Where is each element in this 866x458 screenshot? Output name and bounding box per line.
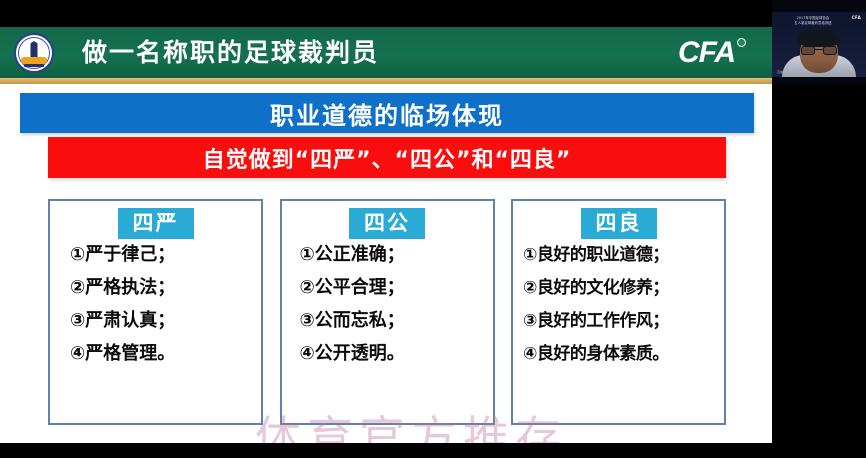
video-corner-brand: CFA — [852, 15, 861, 20]
red-headline-text: 自觉做到“四严”、“四公”和“四良” — [203, 142, 572, 174]
content-columns: 四严 ①严于律己； ②严格执法； ③严肃认真； ④严格管理。 四公 ①公正准确；… — [48, 199, 726, 425]
video-banner-text: 2017年中国足球协会 五人制足球裁判员培训班 — [780, 16, 846, 26]
list-item: ④公开透明。 — [292, 344, 493, 364]
column-heading-si-yan: 四严 — [118, 208, 194, 239]
list-item: ②良好的文化修养； — [523, 278, 724, 298]
list-item: ③严肃认真； — [60, 311, 261, 331]
content-column-si-yan: 四严 ①严于律己； ②严格执法； ③严肃认真； ④严格管理。 — [48, 199, 263, 425]
list-item: ①严于律己； — [60, 245, 261, 265]
list-item: ②严格执法； — [60, 278, 261, 298]
crest-ribbon-shape — [21, 57, 47, 64]
column-heading-si-gong: 四公 — [349, 208, 425, 239]
video-letterbox-top — [772, 0, 866, 12]
video-letterbox-bottom — [772, 77, 866, 85]
blue-headline-banner: 职业道德的临场体现 — [20, 93, 754, 133]
column-list-si-gong: ①公正准确； ②公平合理； ③公而忘私； ④公开透明。 — [282, 245, 493, 364]
list-item: ④良好的身体素质。 — [523, 344, 724, 364]
presenter-video-thumbnail[interactable]: CFA 2017年中国足球协会 五人制足球裁判员培训班 直播中 — [772, 0, 866, 85]
glasses-lens-left — [801, 46, 815, 55]
content-column-si-liang: 四良 ①良好的职业道德； ②良好的文化修养； ③良好的工作作风； ④良好的身体素… — [511, 199, 726, 425]
red-headline-banner: 自觉做到“四严”、“四公”和“四良” — [48, 137, 726, 178]
presenter-glasses-icon — [801, 46, 837, 55]
glasses-bridge — [815, 49, 823, 50]
slide-header-title: 做一名称职的足球裁判员 — [82, 27, 379, 78]
cfa-crest-icon — [14, 33, 54, 73]
list-item: ③公而忘私； — [292, 311, 493, 331]
content-column-si-gong: 四公 ①公正准确； ②公平合理； ③公而忘私； ④公开透明。 — [280, 199, 495, 425]
screen: 做一名称职的足球裁判员 CFA 职业道德的临场体现 自觉做到“四严”、“四公”和… — [0, 0, 866, 458]
column-list-si-liang: ①良好的职业道德； ②良好的文化修养； ③良好的工作作风； ④良好的身体素质。 — [513, 245, 724, 364]
letterbox-bottom — [0, 443, 866, 458]
blue-headline-text: 职业道德的临场体现 — [270, 96, 504, 131]
list-item: ①公正准确； — [292, 245, 493, 265]
column-heading-si-liang: 四良 — [581, 208, 657, 239]
letterbox-top — [0, 0, 772, 27]
video-banner-line-2: 五人制足球裁判员培训班 — [780, 21, 846, 26]
list-item: ②公平合理； — [292, 278, 493, 298]
list-item: ③良好的工作作风； — [523, 311, 724, 331]
crest-base-shape — [24, 64, 44, 67]
list-item: ①良好的职业道德； — [523, 245, 724, 265]
cfa-logo: CFA — [678, 37, 746, 68]
video-ticker-text: 直播中 — [777, 70, 786, 74]
slide-header-band: 做一名称职的足球裁判员 CFA — [0, 27, 772, 78]
column-list-si-yan: ①严于律己； ②严格执法； ③严肃认真； ④严格管理。 — [50, 245, 261, 364]
glasses-lens-right — [823, 46, 837, 55]
list-item: ④严格管理。 — [60, 344, 261, 364]
slide-header-gold-rule — [0, 78, 772, 84]
football-registered-icon — [737, 38, 746, 47]
presenter-hair — [798, 29, 840, 47]
presentation-slide: 做一名称职的足球裁判员 CFA 职业道德的临场体现 自觉做到“四严”、“四公”和… — [0, 27, 772, 443]
cfa-wordmark: CFA — [678, 37, 735, 68]
